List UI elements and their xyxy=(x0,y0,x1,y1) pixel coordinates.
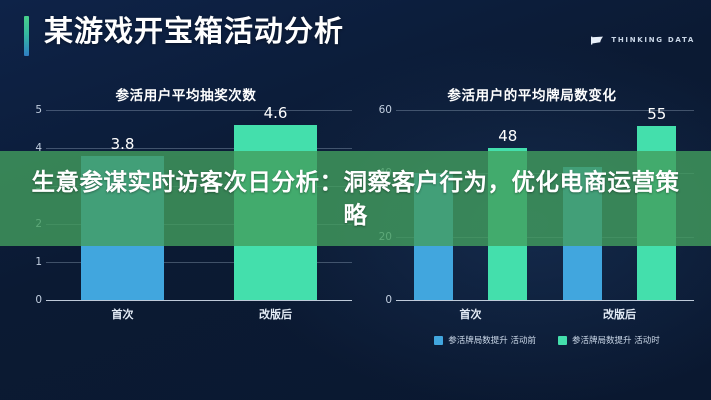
thinkingdata-flag-icon xyxy=(591,30,604,49)
bar-value-label: 4.6 xyxy=(264,104,288,122)
chart-legend: 参活牌局数提升 活动前参活牌局数提升 活动时 xyxy=(396,334,698,346)
brand-logo: THINKING DATA xyxy=(591,30,695,49)
x-axis-labels-left: 首次改版后 xyxy=(46,306,352,324)
bar-value-label: 48 xyxy=(498,127,517,145)
bar-value-label: 55 xyxy=(647,105,666,123)
title-accent-bar xyxy=(24,16,29,56)
slide-header: 某游戏开宝箱活动分析 THINKING DATA xyxy=(0,0,711,74)
legend-item[interactable]: 参活牌局数提升 活动前 xyxy=(434,334,536,346)
x-axis-label: 改版后 xyxy=(603,306,636,322)
legend-label: 参活牌局数提升 活动前 xyxy=(448,334,536,346)
chart-title-left: 参活用户平均抽奖次数 xyxy=(16,84,356,104)
x-axis-line xyxy=(396,300,694,301)
x-axis-labels-right: 首次改版后 xyxy=(396,306,694,324)
y-axis-tick: 5 xyxy=(16,104,42,116)
x-axis-label: 首次 xyxy=(460,306,482,322)
chart-title-right: 参活用户的平均牌局数变化 xyxy=(366,84,698,104)
x-axis-label: 首次 xyxy=(112,306,134,322)
slide-canvas: 某游戏开宝箱活动分析 THINKING DATA 参活用户平均抽奖次数 0123… xyxy=(0,0,711,400)
article-title-text: 生意参谋实时访客次日分析：洞察客户行为，优化电商运营策略 xyxy=(0,151,711,246)
legend-swatch xyxy=(434,336,443,345)
y-axis-tick: 1 xyxy=(16,256,42,268)
bar-value-label: 3.8 xyxy=(111,135,135,153)
x-axis-label: 改版后 xyxy=(259,306,292,322)
y-axis-tick: 0 xyxy=(16,294,42,306)
brand-text: THINKING DATA xyxy=(611,36,695,44)
x-axis-line xyxy=(46,300,352,301)
legend-label: 参活牌局数提升 活动时 xyxy=(572,334,660,346)
page-title: 某游戏开宝箱活动分析 xyxy=(44,8,344,54)
y-axis-tick: 0 xyxy=(366,294,392,306)
y-axis-tick: 60 xyxy=(366,104,392,116)
legend-swatch xyxy=(558,336,567,345)
legend-item[interactable]: 参活牌局数提升 活动时 xyxy=(558,334,660,346)
